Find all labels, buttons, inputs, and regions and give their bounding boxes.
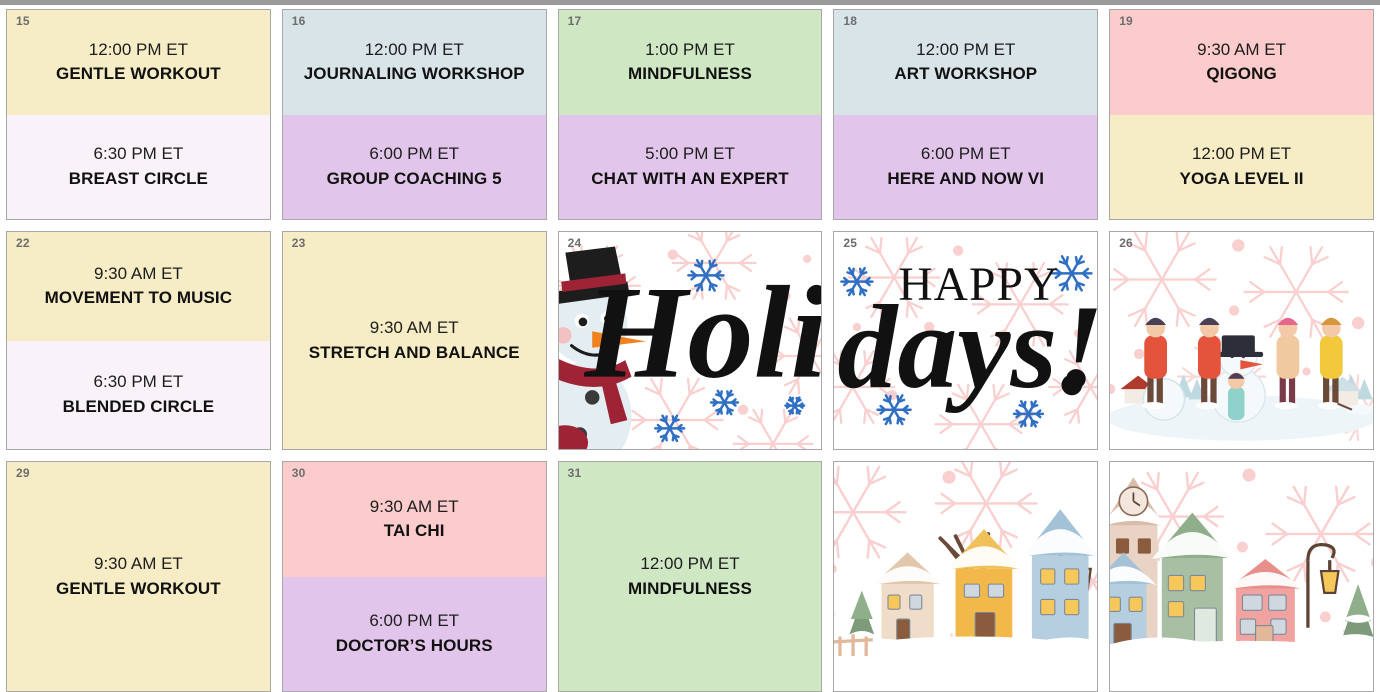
event-list: 9:30 AM ETMOVEMENT TO MUSIC6:30 PM ETBLE… bbox=[7, 232, 270, 449]
event-block[interactable]: 6:00 PM ETHERE AND NOW VI bbox=[834, 115, 1097, 220]
event-list: 12:00 PM ETART WORKSHOP6:00 PM ETHERE AN… bbox=[834, 10, 1097, 219]
event-list: 12:00 PM ETJOURNALING WORKSHOP6:00 PM ET… bbox=[283, 10, 546, 219]
event-block[interactable]: 6:00 PM ETDOCTOR’S HOURS bbox=[283, 577, 546, 692]
day-cell-30[interactable]: 9:30 AM ETTAI CHI6:00 PM ETDOCTOR’S HOUR… bbox=[282, 461, 547, 692]
day-number: 23 bbox=[292, 237, 306, 249]
event-time: 6:00 PM ET bbox=[921, 142, 1011, 167]
event-title: BREAST CIRCLE bbox=[69, 167, 208, 192]
event-list: 9:30 AM ETSTRETCH AND BALANCE bbox=[283, 232, 546, 449]
event-block[interactable]: 9:30 AM ETQIGONG bbox=[1110, 10, 1373, 115]
day-number: 15 bbox=[16, 15, 30, 27]
event-time: 12:00 PM ET bbox=[365, 38, 464, 63]
day-number: 18 bbox=[843, 15, 857, 27]
event-time: 9:30 AM ET bbox=[94, 262, 183, 287]
day-number: 30 bbox=[292, 467, 306, 479]
calendar-grid-view: 12:00 PM ETGENTLE WORKOUT6:30 PM ETBREAS… bbox=[0, 0, 1380, 676]
day-cell-23[interactable]: 9:30 AM ETSTRETCH AND BALANCE23 bbox=[282, 231, 547, 450]
event-block[interactable]: 1:00 PM ETMINDFULNESS bbox=[559, 10, 822, 115]
day-number: 29 bbox=[16, 467, 30, 479]
event-title: TAI CHI bbox=[384, 519, 445, 544]
event-time: 12:00 PM ET bbox=[640, 552, 739, 577]
event-title: GENTLE WORKOUT bbox=[56, 62, 221, 87]
event-time: 6:00 PM ET bbox=[369, 142, 459, 167]
holiday-illustration-happy-holidays: HAPPYdays! bbox=[834, 232, 1097, 449]
svg-text:Holi: Holi bbox=[583, 259, 821, 406]
event-block[interactable]: 6:30 PM ETBREAST CIRCLE bbox=[7, 115, 270, 220]
day-cell-19[interactable]: 9:30 AM ETQIGONG12:00 PM ETYOGA LEVEL II… bbox=[1109, 9, 1374, 220]
day-number: 24 bbox=[568, 237, 582, 249]
event-block[interactable]: 6:00 PM ETGROUP COACHING 5 bbox=[283, 115, 546, 220]
event-time: 9:30 AM ET bbox=[1197, 38, 1286, 63]
event-title: HERE AND NOW VI bbox=[887, 167, 1044, 192]
event-list: 1:00 PM ETMINDFULNESS5:00 PM ETCHAT WITH… bbox=[559, 10, 822, 219]
event-title: BLENDED CIRCLE bbox=[63, 395, 215, 420]
day-number: 31 bbox=[568, 467, 582, 479]
event-block[interactable]: 12:00 PM ETJOURNALING WORKSHOP bbox=[283, 10, 546, 115]
event-time: 6:00 PM ET bbox=[369, 609, 459, 634]
event-time: 9:30 AM ET bbox=[94, 552, 183, 577]
day-cell-empty[interactable] bbox=[1109, 461, 1374, 692]
event-title: MINDFULNESS bbox=[628, 62, 752, 87]
event-time: 6:30 PM ET bbox=[94, 370, 184, 395]
event-title: GROUP COACHING 5 bbox=[327, 167, 502, 192]
day-cell-16[interactable]: 12:00 PM ETJOURNALING WORKSHOP6:00 PM ET… bbox=[282, 9, 547, 220]
event-block[interactable]: 5:00 PM ETCHAT WITH AN EXPERT bbox=[559, 115, 822, 220]
calendar-week-grid: 12:00 PM ETGENTLE WORKOUT6:30 PM ETBREAS… bbox=[0, 5, 1380, 676]
day-number: 25 bbox=[843, 237, 857, 249]
event-block[interactable]: 12:00 PM ETGENTLE WORKOUT bbox=[7, 10, 270, 115]
event-list: 9:30 AM ETTAI CHI6:00 PM ETDOCTOR’S HOUR… bbox=[283, 462, 546, 691]
event-title: GENTLE WORKOUT bbox=[56, 577, 221, 602]
day-number: 22 bbox=[16, 237, 30, 249]
day-number: 16 bbox=[292, 15, 306, 27]
event-title: CHAT WITH AN EXPERT bbox=[591, 167, 788, 192]
day-cell-empty[interactable] bbox=[833, 461, 1098, 692]
day-cell-15[interactable]: 12:00 PM ETGENTLE WORKOUT6:30 PM ETBREAS… bbox=[6, 9, 271, 220]
event-time: 12:00 PM ET bbox=[1192, 142, 1291, 167]
event-block[interactable]: 9:30 AM ETSTRETCH AND BALANCE bbox=[283, 232, 546, 449]
holiday-illustration-snowman-builders-scene bbox=[1110, 232, 1373, 449]
event-block[interactable]: 12:00 PM ETYOGA LEVEL II bbox=[1110, 115, 1373, 220]
day-cell-25[interactable]: HAPPYdays!25 bbox=[833, 231, 1098, 450]
event-block[interactable]: 9:30 AM ETTAI CHI bbox=[283, 462, 546, 577]
event-block[interactable]: 9:30 AM ETGENTLE WORKOUT bbox=[7, 462, 270, 691]
event-block[interactable]: 12:00 PM ETART WORKSHOP bbox=[834, 10, 1097, 115]
day-number: 19 bbox=[1119, 15, 1133, 27]
event-time: 9:30 AM ET bbox=[370, 316, 459, 341]
event-list: 9:30 AM ETQIGONG12:00 PM ETYOGA LEVEL II bbox=[1110, 10, 1373, 219]
event-list: 9:30 AM ETGENTLE WORKOUT bbox=[7, 462, 270, 691]
event-title: STRETCH AND BALANCE bbox=[309, 341, 520, 366]
event-time: 9:30 AM ET bbox=[370, 495, 459, 520]
holiday-illustration-winter-village-right bbox=[1110, 462, 1373, 691]
event-time: 6:30 PM ET bbox=[94, 142, 184, 167]
day-cell-26[interactable]: 26 bbox=[1109, 231, 1374, 450]
svg-text:days!: days! bbox=[838, 280, 1097, 413]
event-title: QIGONG bbox=[1206, 62, 1277, 87]
event-list: 12:00 PM ETMINDFULNESS bbox=[559, 462, 822, 691]
day-cell-24[interactable]: Holi24 bbox=[558, 231, 823, 450]
day-cell-17[interactable]: 1:00 PM ETMINDFULNESS5:00 PM ETCHAT WITH… bbox=[558, 9, 823, 220]
event-title: DOCTOR’S HOURS bbox=[336, 634, 493, 659]
event-title: YOGA LEVEL II bbox=[1180, 167, 1304, 192]
event-title: JOURNALING WORKSHOP bbox=[304, 62, 525, 87]
day-cell-18[interactable]: 12:00 PM ETART WORKSHOP6:00 PM ETHERE AN… bbox=[833, 9, 1098, 220]
event-time: 5:00 PM ET bbox=[645, 142, 735, 167]
day-cell-29[interactable]: 9:30 AM ETGENTLE WORKOUT29 bbox=[6, 461, 271, 692]
holiday-illustration-winter-village-left bbox=[834, 462, 1097, 691]
event-time: 12:00 PM ET bbox=[89, 38, 188, 63]
event-title: ART WORKSHOP bbox=[894, 62, 1037, 87]
day-number: 17 bbox=[568, 15, 582, 27]
event-time: 12:00 PM ET bbox=[916, 38, 1015, 63]
holiday-illustration-snowman-holidays: Holi bbox=[559, 232, 822, 449]
day-cell-22[interactable]: 9:30 AM ETMOVEMENT TO MUSIC6:30 PM ETBLE… bbox=[6, 231, 271, 450]
event-block[interactable]: 6:30 PM ETBLENDED CIRCLE bbox=[7, 341, 270, 450]
day-cell-31[interactable]: 12:00 PM ETMINDFULNESS31 bbox=[558, 461, 823, 692]
event-block[interactable]: 9:30 AM ETMOVEMENT TO MUSIC bbox=[7, 232, 270, 341]
event-time: 1:00 PM ET bbox=[645, 38, 735, 63]
event-title: MOVEMENT TO MUSIC bbox=[45, 286, 232, 311]
event-list: 12:00 PM ETGENTLE WORKOUT6:30 PM ETBREAS… bbox=[7, 10, 270, 219]
event-block[interactable]: 12:00 PM ETMINDFULNESS bbox=[559, 462, 822, 691]
event-title: MINDFULNESS bbox=[628, 577, 752, 602]
day-number: 26 bbox=[1119, 237, 1133, 249]
